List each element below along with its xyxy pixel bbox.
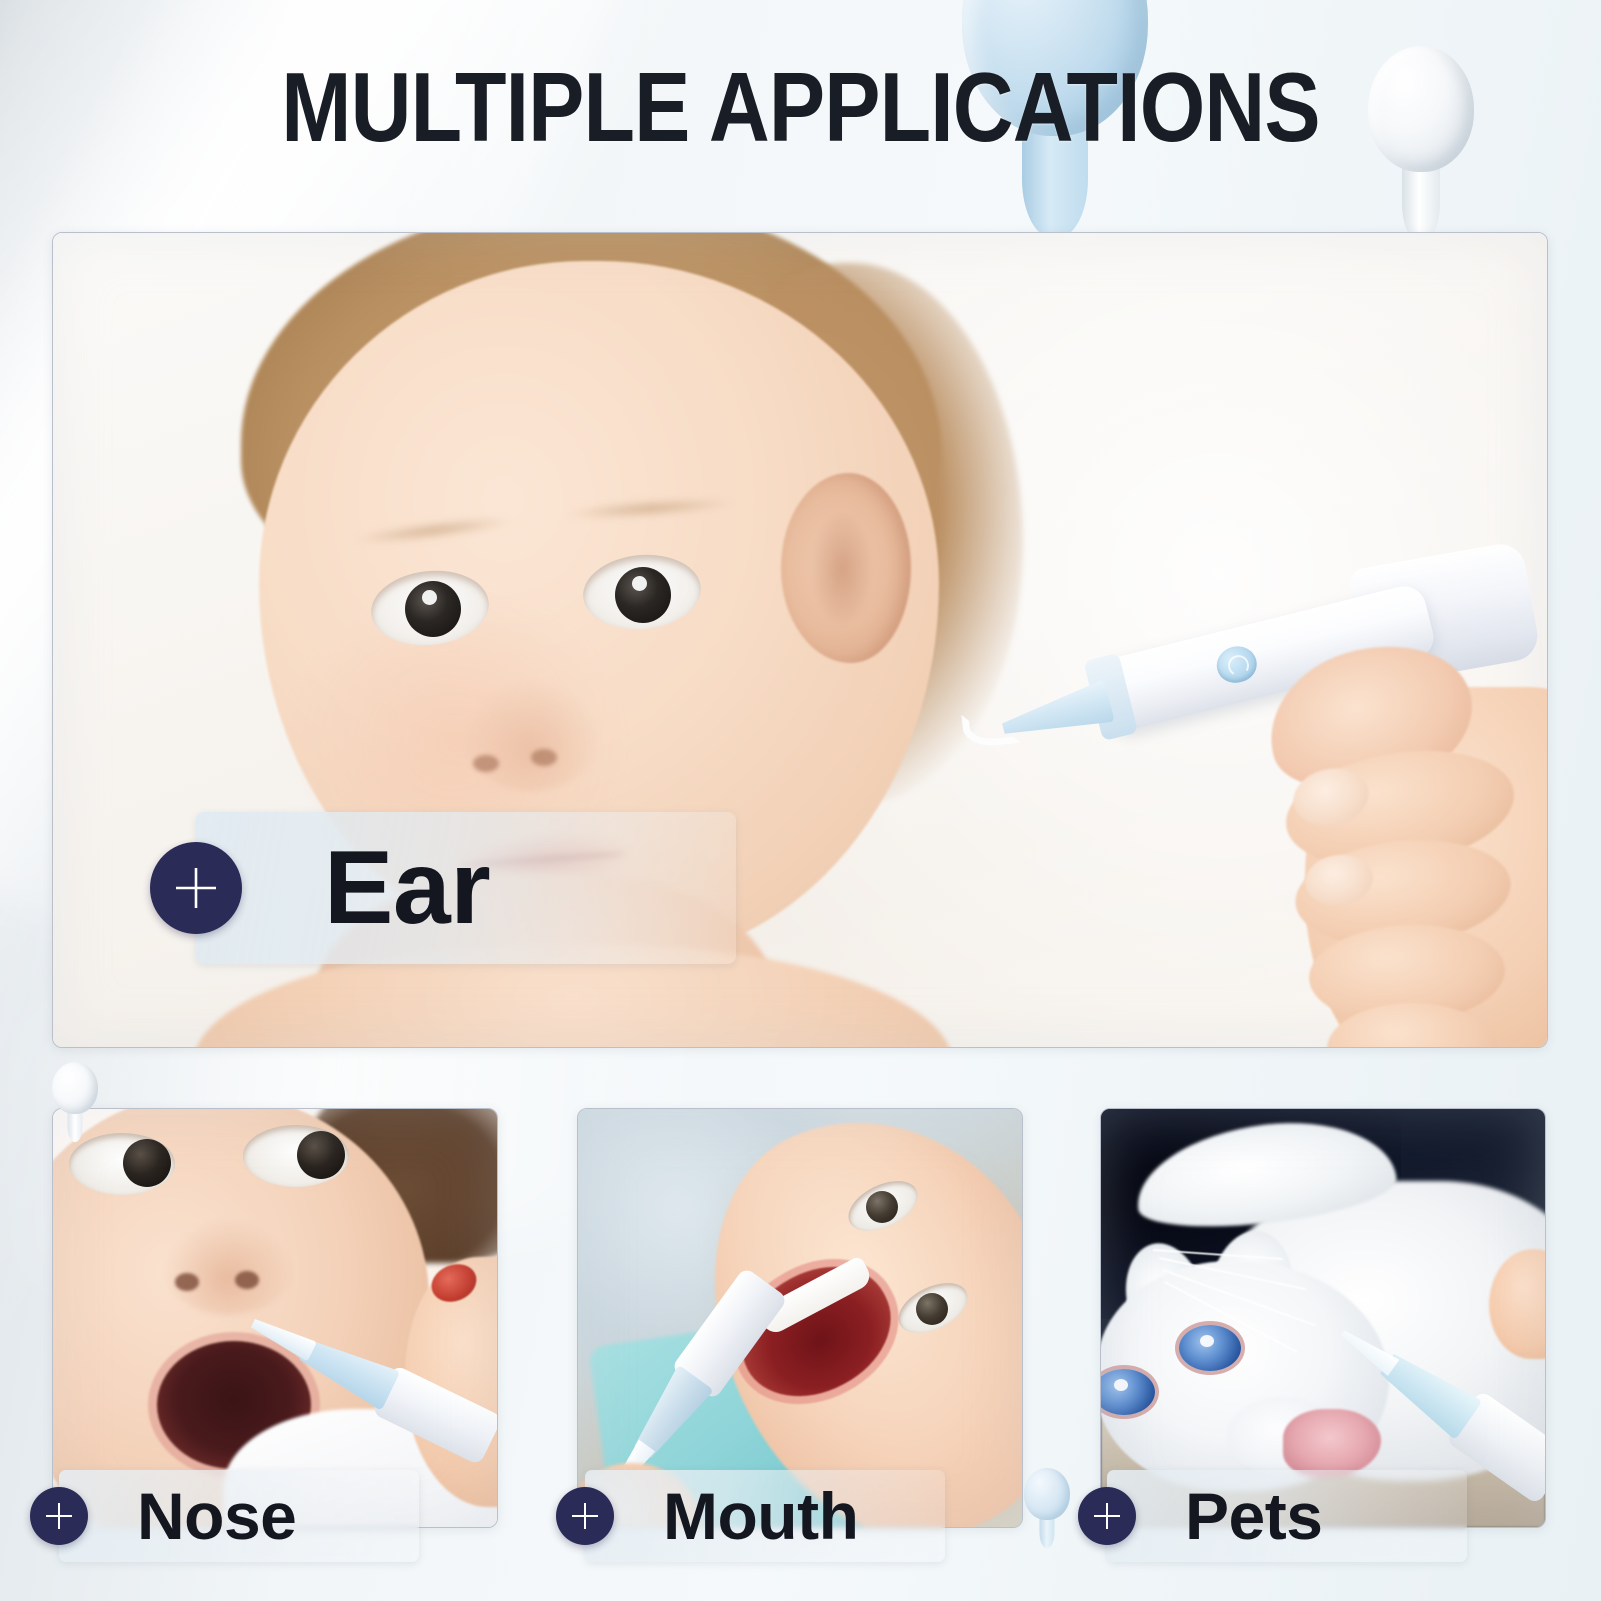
label-panel-nose: Nose: [59, 1470, 419, 1562]
product-infographic: MULTIPLE APPLICATIONS: [0, 0, 1601, 1601]
pets-application-photo: [1101, 1109, 1545, 1527]
pets-image-card[interactable]: [1100, 1108, 1546, 1528]
adult-hand: [1221, 631, 1547, 1047]
device-scoop-tip-icon: [961, 709, 1020, 749]
mouth-application-photo: [578, 1109, 1022, 1527]
plus-icon: [556, 1487, 614, 1545]
label-panel-pets: Pets: [1107, 1470, 1467, 1562]
silicone-tip-blue-small-icon: [1024, 1468, 1070, 1546]
nose-application-photo: [53, 1109, 497, 1527]
plus-icon: [30, 1487, 88, 1545]
label-mouth[interactable]: Mouth: [556, 1470, 945, 1562]
label-ear[interactable]: Ear: [150, 812, 736, 964]
label-text-nose: Nose: [137, 1483, 296, 1549]
mouth-image-card[interactable]: [577, 1108, 1023, 1528]
page-title: MULTIPLE APPLICATIONS: [112, 58, 1489, 156]
label-text-ear: Ear: [324, 836, 490, 940]
plus-icon: [1078, 1487, 1136, 1545]
label-pets[interactable]: Pets: [1078, 1470, 1467, 1562]
label-text-pets: Pets: [1185, 1483, 1322, 1549]
label-panel-mouth: Mouth: [585, 1470, 945, 1562]
plus-icon: [150, 842, 242, 934]
label-text-mouth: Mouth: [663, 1483, 858, 1549]
nose-image-card[interactable]: [52, 1108, 498, 1528]
label-nose[interactable]: Nose: [30, 1470, 419, 1562]
label-panel-ear: Ear: [196, 812, 736, 964]
